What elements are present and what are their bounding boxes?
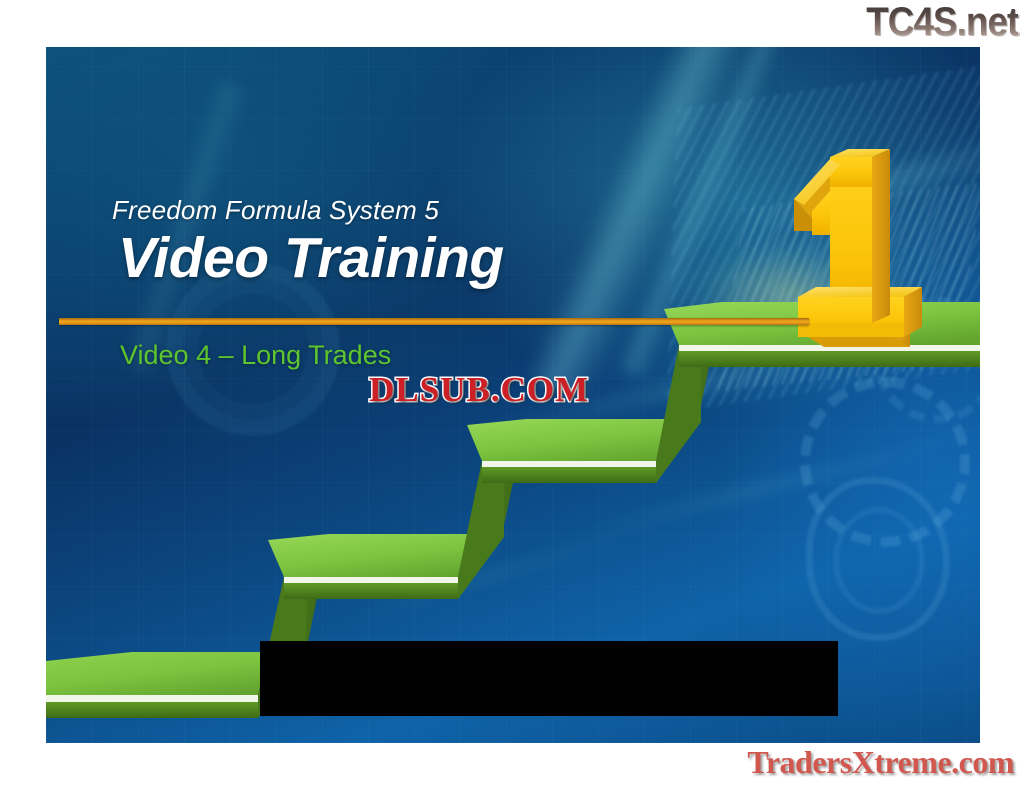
presentation-slide: Freedom Formula System 5 Video Training … xyxy=(46,47,980,743)
slide-subtitle: Video 4 – Long Trades xyxy=(120,340,391,371)
slide-eyebrow-text: Freedom Formula System 5 xyxy=(112,195,439,226)
gold-divider-rule xyxy=(59,318,809,325)
slide-title: Video Training xyxy=(118,225,504,291)
dlsub-watermark: DLSUB.COM xyxy=(369,372,589,408)
site-watermark-top: TC4S.net xyxy=(866,2,1018,42)
redaction-bar xyxy=(260,641,838,716)
site-watermark-bottom: TradersXtreme.com xyxy=(747,745,1014,779)
